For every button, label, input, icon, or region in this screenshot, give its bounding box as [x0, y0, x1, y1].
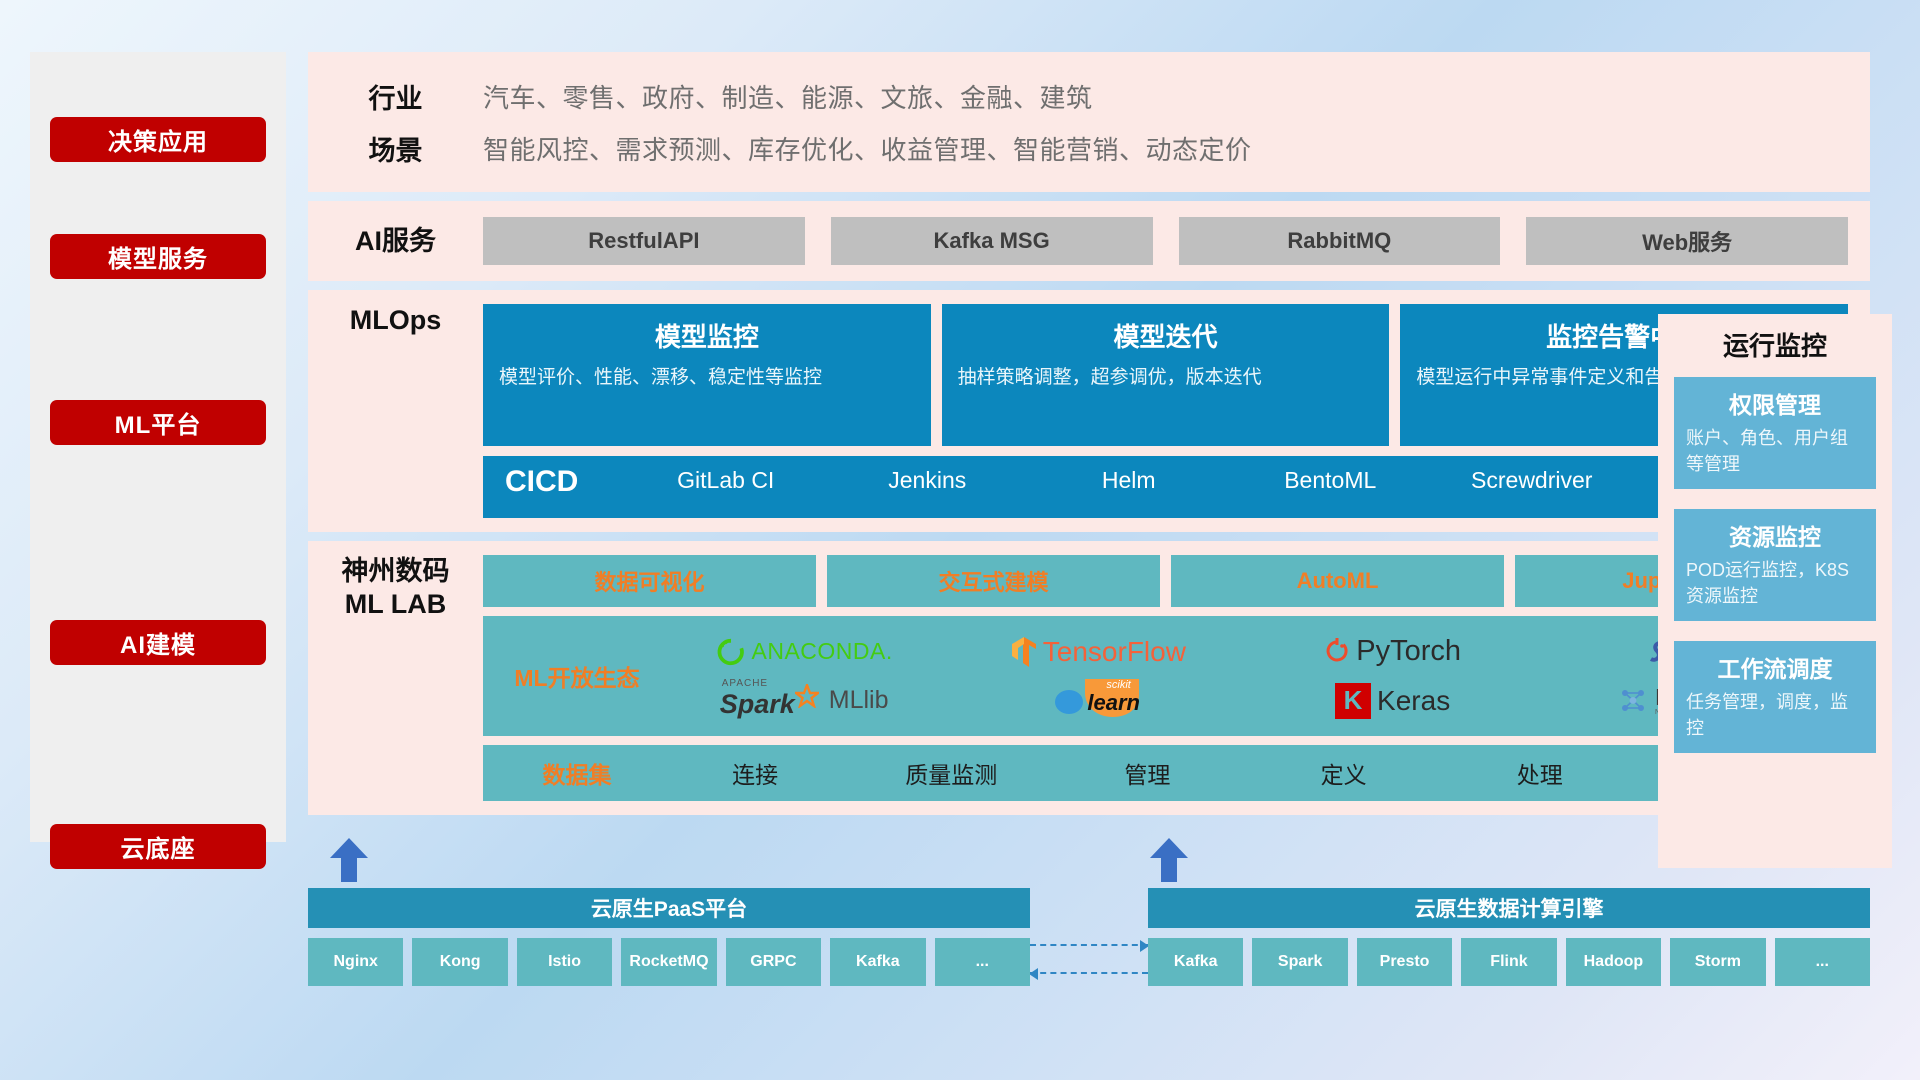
paas-column: 云原生PaaS平台 Nginx Kong Istio RocketMQ GRPC…	[308, 888, 1030, 986]
pytorch-icon	[1324, 637, 1350, 667]
runtime-monitoring-panel: 运行监控 权限管理 账户、角色、用户组等管理 资源监控 POD运行监控，K8S资…	[1658, 314, 1892, 868]
dataset-item-connect[interactable]: 连接	[657, 756, 853, 790]
mlops-card-title: 模型监控	[499, 317, 915, 354]
runtime-monitoring-title: 运行监控	[1674, 326, 1876, 363]
architecture-stack: 行业 汽车、零售、政府、制造、能源、文旅、金融、建筑 场景 智能风控、需求预测、…	[308, 52, 1870, 824]
dataset-row: 数据集 连接 质量监测 管理 定义 处理 加载	[483, 745, 1848, 801]
service-chip-web[interactable]: Web服务	[1526, 217, 1848, 265]
spark-star-icon	[795, 684, 819, 708]
spark-wordmark: Spark	[720, 689, 795, 720]
ml-lab-band: 神州数码 ML LAB 数据可视化 交互式建模 AutoML JupyterLa…	[308, 541, 1870, 815]
scenario-values: 智能风控、需求预测、库存优化、收益管理、智能营销、动态定价	[483, 130, 1252, 167]
engine-chip-spark[interactable]: Spark	[1252, 938, 1347, 986]
paas-header: 云原生PaaS平台	[308, 888, 1030, 928]
industry-label: 行业	[308, 77, 483, 116]
service-chip-rabbitmq[interactable]: RabbitMQ	[1179, 217, 1501, 265]
cicd-item-bentoml[interactable]: BentoML	[1230, 465, 1432, 492]
cicd-item-jenkins[interactable]: Jenkins	[827, 465, 1029, 492]
paas-chip-kafka[interactable]: Kafka	[830, 938, 925, 986]
engine-chip-flink[interactable]: Flink	[1461, 938, 1556, 986]
anaconda-wordmark: ANACONDA.	[752, 638, 893, 665]
keras-mark-letter: K	[1344, 685, 1363, 716]
spark-apache-text: APACHE	[722, 678, 768, 689]
cloud-base-gap	[1030, 888, 1148, 986]
rr-card-title: 资源监控	[1686, 518, 1864, 552]
cicd-bar: CICD GitLab CI Jenkins Helm BentoML Scre…	[483, 456, 1848, 518]
keras-wordmark: Keras	[1377, 685, 1450, 717]
data-engine-header: 云原生数据计算引擎	[1148, 888, 1870, 928]
cicd-item-helm[interactable]: Helm	[1028, 465, 1230, 492]
spark-mllib-logo: APACHE Spark MLlib	[720, 681, 889, 720]
rr-card-desc: 任务管理，调度，监控	[1686, 690, 1864, 741]
layer-chip-cloud-base[interactable]: 云底座	[50, 824, 266, 869]
data-engine-column: 云原生数据计算引擎 Kafka Spark Presto Flink Hadoo…	[1148, 888, 1870, 986]
industry-scenario-band: 行业 汽车、零售、政府、制造、能源、文旅、金融、建筑 场景 智能风控、需求预测、…	[308, 52, 1870, 192]
dataset-item-processing[interactable]: 处理	[1442, 756, 1638, 790]
mlops-label: MLOps	[308, 304, 483, 518]
engine-chip-kafka[interactable]: Kafka	[1148, 938, 1243, 986]
mlops-card-desc: 模型评价、性能、漂移、稳定性等监控	[499, 364, 915, 392]
dataset-item-management[interactable]: 管理	[1049, 756, 1245, 790]
engine-chip-more[interactable]: ...	[1775, 938, 1870, 986]
dataset-item-quality-monitoring[interactable]: 质量监测	[853, 756, 1049, 790]
learn-word: learn	[1087, 690, 1140, 716]
cloud-base-section: 云原生PaaS平台 Nginx Kong Istio RocketMQ GRPC…	[308, 888, 1870, 986]
rr-card-desc: POD运行监控，K8S资源监控	[1686, 558, 1864, 609]
ml-lab-label: 神州数码 ML LAB	[308, 555, 483, 801]
paas-chip-istio[interactable]: Istio	[517, 938, 612, 986]
ai-service-band: AI服务 RestfulAPI Kafka MSG RabbitMQ Web服务	[308, 201, 1870, 281]
mlops-card-title: 模型迭代	[958, 317, 1374, 354]
tensorflow-wordmark: TensorFlow	[1043, 636, 1186, 668]
rr-card-permission-management[interactable]: 权限管理 账户、角色、用户组等管理	[1674, 377, 1876, 489]
rr-card-resource-monitoring[interactable]: 资源监控 POD运行监控，K8S资源监控	[1674, 509, 1876, 621]
mlops-card-desc: 抽样策略调整，超参调优，版本迭代	[958, 364, 1374, 392]
mlops-card-model-monitoring[interactable]: 模型监控 模型评价、性能、漂移、稳定性等监控	[483, 304, 931, 446]
pytorch-wordmark: PyTorch	[1356, 635, 1461, 668]
pytorch-logo: PyTorch	[1324, 635, 1461, 668]
ml-ecosystem-label: ML开放生态	[497, 659, 657, 693]
rr-card-title: 权限管理	[1686, 386, 1864, 420]
tool-chip-automl[interactable]: AutoML	[1171, 555, 1504, 607]
engine-chip-storm[interactable]: Storm	[1670, 938, 1765, 986]
layer-chip-decision-app[interactable]: 决策应用	[50, 117, 266, 162]
paas-chip-nginx[interactable]: Nginx	[308, 938, 403, 986]
scenario-label: 场景	[308, 129, 483, 168]
paas-chip-kong[interactable]: Kong	[412, 938, 507, 986]
mlops-card-model-iteration[interactable]: 模型迭代 抽样策略调整，超参调优，版本迭代	[942, 304, 1390, 446]
dataset-item-definition[interactable]: 定义	[1246, 756, 1442, 790]
engine-chip-hadoop[interactable]: Hadoop	[1566, 938, 1661, 986]
service-chip-kafka-msg[interactable]: Kafka MSG	[831, 217, 1153, 265]
ai-service-label: AI服务	[308, 225, 483, 258]
up-arrow-data-engine-icon	[1150, 838, 1188, 882]
tool-chip-interactive-modeling[interactable]: 交互式建模	[827, 555, 1160, 607]
rr-card-workflow-scheduling[interactable]: 工作流调度 任务管理，调度，监控	[1674, 641, 1876, 753]
scenario-row: 场景 智能风控、需求预测、库存优化、收益管理、智能营销、动态定价	[308, 122, 1850, 174]
keras-mark-icon: K	[1335, 683, 1371, 719]
mllib-wordmark: MLlib	[829, 686, 889, 715]
industry-values: 汽车、零售、政府、制造、能源、文旅、金融、建筑	[483, 78, 1093, 115]
rr-card-title: 工作流调度	[1686, 650, 1864, 684]
paas-chip-grpc[interactable]: GRPC	[726, 938, 821, 986]
ml-lab-label-line2: ML LAB	[308, 588, 483, 621]
anaconda-logo: ANACONDA.	[716, 637, 893, 667]
mlops-band: MLOps 模型监控 模型评价、性能、漂移、稳定性等监控 模型迭代 抽样策略调整…	[308, 290, 1870, 532]
dataset-label: 数据集	[497, 756, 657, 790]
industry-row: 行业 汽车、零售、政府、制造、能源、文旅、金融、建筑	[308, 70, 1850, 122]
anaconda-icon	[716, 637, 746, 667]
scikit-learn-logo: scikit learn	[1053, 677, 1143, 724]
cicd-item-screwdriver[interactable]: Screwdriver	[1431, 465, 1633, 492]
networkx-graph-icon	[1619, 686, 1649, 716]
keras-logo: K Keras	[1335, 683, 1450, 719]
tool-chip-data-visualization[interactable]: 数据可视化	[483, 555, 816, 607]
layer-chip-model-service[interactable]: 模型服务	[50, 234, 266, 279]
engine-chip-presto[interactable]: Presto	[1357, 938, 1452, 986]
layer-chip-ml-platform[interactable]: ML平台	[50, 400, 266, 445]
ml-lab-label-line1: 神州数码	[308, 555, 483, 588]
tensorflow-logo: TensorFlow	[1011, 636, 1186, 668]
rr-card-desc: 账户、角色、用户组等管理	[1686, 426, 1864, 477]
paas-chip-more[interactable]: ...	[935, 938, 1030, 986]
cicd-item-gitlab-ci[interactable]: GitLab CI	[625, 465, 827, 492]
layer-rail: 决策应用 模型服务 ML平台 AI建模	[30, 52, 286, 842]
cicd-title: CICD	[505, 465, 625, 499]
ml-ecosystem-row: ML开放生态 ANACONDA.	[483, 616, 1848, 736]
paas-chip-rocketmq[interactable]: RocketMQ	[621, 938, 716, 986]
service-chip-restfulapi[interactable]: RestfulAPI	[483, 217, 805, 265]
layer-chip-ai-modeling[interactable]: AI建模	[50, 620, 266, 665]
tensorflow-icon	[1011, 636, 1037, 668]
up-arrow-paas-icon	[330, 838, 368, 882]
